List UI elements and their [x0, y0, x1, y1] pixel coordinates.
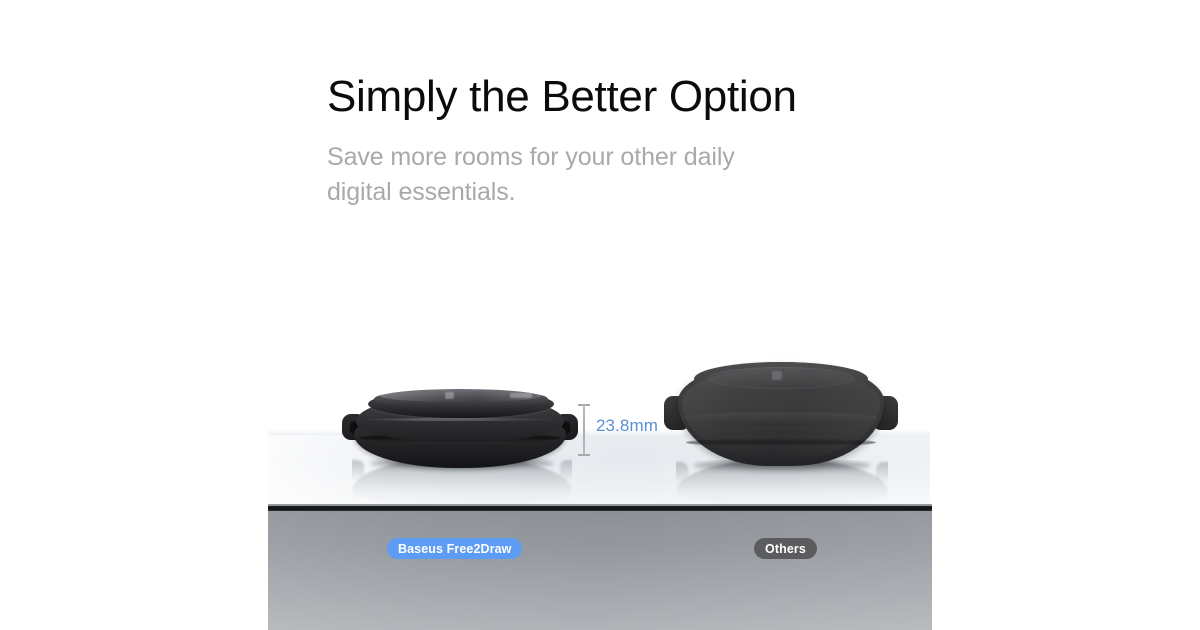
measurement-value-label: 23.8mm	[596, 416, 658, 436]
device-text-mark-icon	[510, 393, 532, 398]
device-rim-highlight	[360, 418, 560, 421]
slim-puck-device-icon	[340, 388, 580, 470]
page-subtitle-line-2: digital essentials.	[327, 175, 847, 210]
page-title: Simply the Better Option	[327, 68, 797, 126]
device-logo-mark-icon	[445, 392, 454, 399]
page-subtitle-line-1: Save more rooms for your other daily	[327, 143, 735, 171]
height-measurement-annotation: 23.8mm	[578, 402, 698, 458]
measurement-line	[583, 405, 585, 455]
status-badge-baseus: Baseus Free2Draw	[387, 538, 522, 559]
product-comparison-banner: Simply the Better Option Save more rooms…	[0, 0, 1200, 630]
status-badge-others: Others	[754, 538, 817, 559]
measurement-cap-bottom	[578, 454, 590, 456]
bulky-puck-device-icon	[664, 360, 898, 472]
page-subtitle: Save more rooms for your other daily dig…	[327, 140, 847, 210]
platform-front-sheen	[268, 511, 932, 630]
